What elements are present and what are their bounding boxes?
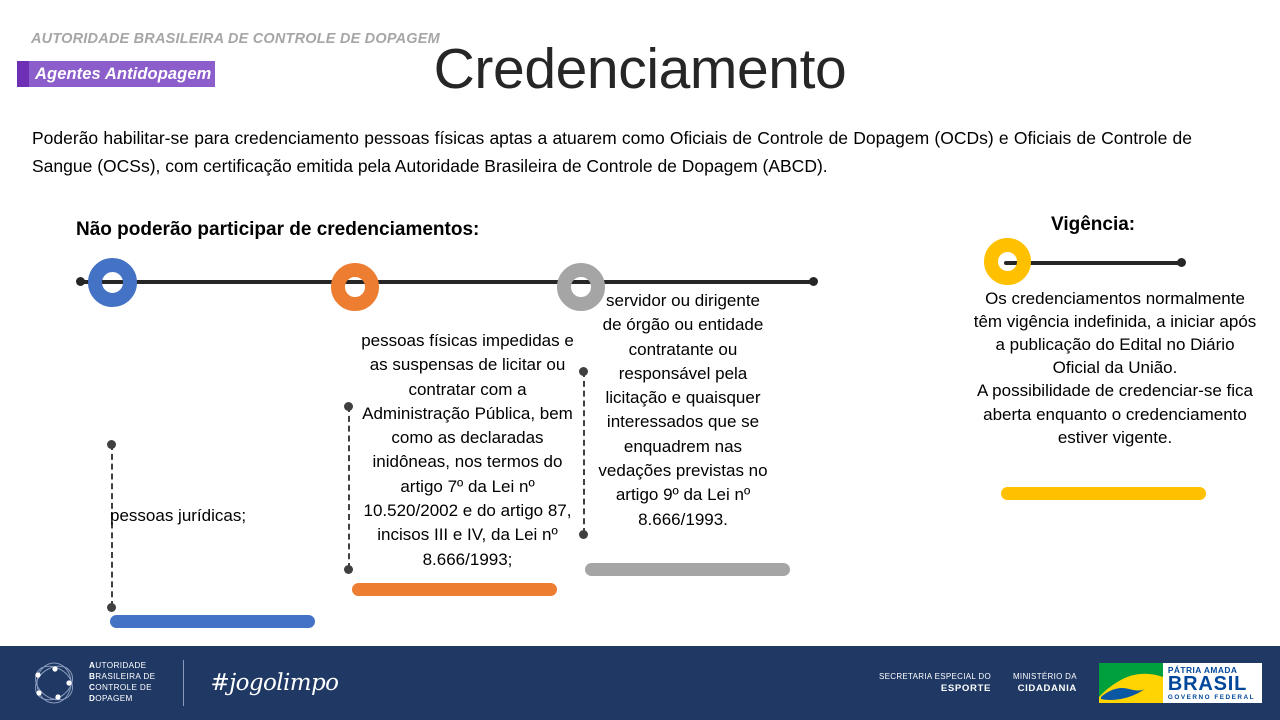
timeline-marker-1-icon [88,258,137,307]
validity-heading: Vigência: [1051,214,1135,236]
abcd-line-4: DOPAGEM [89,694,155,705]
validity-timeline-axis [1004,261,1184,265]
footer-left-group: AUTORIDADE BRASILEIRA DE CONTROLE DE DOP… [28,656,338,710]
footer-government-group: SECRETARIA ESPECIAL DO ESPORTE MINISTÉRI… [879,660,1262,706]
brasil-line-3: GOVERNO FEDERAL [1168,694,1255,701]
accent-pill-1 [110,615,315,628]
jogolimpo-campaign-mark: #jogolimpo [210,670,338,696]
abcd-line-4-rest: OPAGEM [95,694,132,703]
intro-paragraph: Poderão habilitar-se para credenciamento… [32,124,1192,181]
secretaria-line-1: SECRETARIA ESPECIAL DO [879,671,991,682]
restrictions-timeline-axis [80,280,816,284]
connector-line-2 [348,406,350,569]
brasil-government-logo: PÁTRIA AMADA BRASIL GOVERNO FEDERAL [1099,663,1262,703]
secretaria-line-2: ESPORTE [879,682,991,695]
timeline-start-dot [76,277,85,286]
connector-dot-1-bottom [107,603,116,612]
brasil-line-2: BRASIL [1168,675,1255,694]
abcd-wordmark: AUTORIDADE BRASILEIRA DE CONTROLE DE DOP… [89,661,155,704]
ministerio-cidadania-label: MINISTÉRIO DA CIDADANIA [1013,671,1077,696]
connector-dot-1-top [107,440,116,449]
abcd-line-1: AUTORIDADE [89,661,155,672]
timeline-end-dot [809,277,818,286]
validity-timeline-end-dot [1177,258,1186,267]
brasil-wordmark: PÁTRIA AMADA BRASIL GOVERNO FEDERAL [1163,665,1262,701]
footer-bar: AUTORIDADE BRASILEIRA DE CONTROLE DE DOP… [0,646,1280,720]
restriction-item-3-text: servidor ou dirigente de órgão ou entida… [597,289,769,532]
ministerio-line-2: CIDADANIA [1013,682,1077,695]
accent-pill-3 [585,563,790,576]
secretaria-esporte-label: SECRETARIA ESPECIAL DO ESPORTE [879,671,991,696]
validity-text: Os credenciamentos normalmente têm vigên… [970,287,1260,449]
timeline-marker-2-icon [331,263,379,311]
slide-canvas: AUTORIDADE BRASILEIRA DE CONTROLE DE DOP… [0,0,1280,720]
abcd-line-2-rest: RASILEIRA DE [95,672,155,681]
ministerio-line-1: MINISTÉRIO DA [1013,671,1077,682]
abcd-line-2: BRASILEIRA DE [89,672,155,683]
restriction-item-2-text: pessoas físicas impedidas e as suspensas… [360,329,575,572]
accent-pill-2 [352,583,557,596]
abcd-line-3-rest: ONTROLE DE [95,683,152,692]
abcd-line-3: CONTROLE DE [89,683,155,694]
accent-pill-validity [1001,487,1206,500]
connector-dot-3-bottom [579,530,588,539]
connector-dot-3-top [579,367,588,376]
connector-dot-2-bottom [344,565,353,574]
validity-marker-icon [984,238,1031,285]
page-title: Credenciamento [0,36,1280,102]
connector-dot-2-top [344,402,353,411]
footer-divider [183,660,184,706]
abcd-network-logo-icon [28,660,80,706]
restriction-item-1-text: pessoas jurídicas; [110,504,290,528]
brasil-flag-icon [1099,663,1163,703]
restrictions-heading: Não poderão participar de credenciamento… [76,219,479,241]
abcd-line-1-rest: UTORIDADE [95,661,146,670]
connector-line-3 [583,371,585,534]
